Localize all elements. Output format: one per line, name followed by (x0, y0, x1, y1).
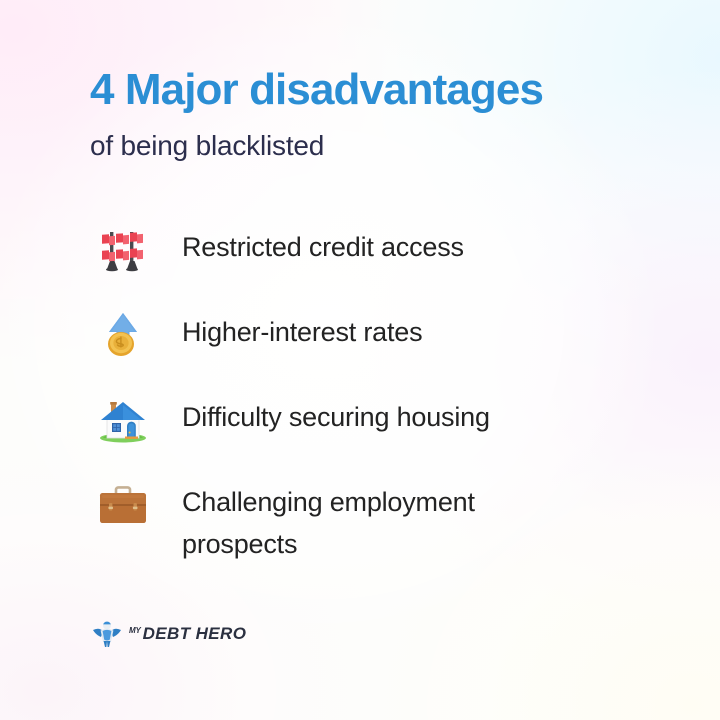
headline-block: 4 Major disadvantages of being blacklist… (90, 63, 690, 163)
page-subtitle: of being blacklisted (90, 129, 690, 163)
logo-wordmark: MY DEBT HERO (129, 625, 246, 643)
list-item: Restricted credit access (92, 222, 652, 280)
list-item: Difficulty securing housing (92, 392, 652, 450)
road-barrier-icon (92, 222, 154, 280)
slide-canvas: 4 Major disadvantages of being blacklist… (0, 0, 720, 720)
list-item: Higher-interest rates (92, 307, 652, 365)
list-item-label: Restricted credit access (182, 222, 464, 268)
page-title: 4 Major disadvantages (90, 63, 690, 117)
list-item-label: Difficulty securing housing (182, 392, 490, 438)
superhero-icon (92, 620, 122, 648)
disadvantages-list: Restricted credit access (92, 222, 652, 592)
up-arrow-coin-icon (92, 307, 154, 365)
logo-name: DEBT HERO (143, 625, 247, 643)
list-item: Challenging employment prospects (92, 477, 652, 565)
list-item-label: Higher-interest rates (182, 307, 422, 353)
logo-prefix: MY (129, 626, 141, 636)
brand-logo[interactable]: MY DEBT HERO (92, 620, 246, 648)
slide-content: 4 Major disadvantages of being blacklist… (0, 0, 720, 720)
house-icon (92, 392, 154, 450)
briefcase-icon (92, 477, 154, 535)
list-item-label: Challenging employment prospects (182, 477, 582, 565)
